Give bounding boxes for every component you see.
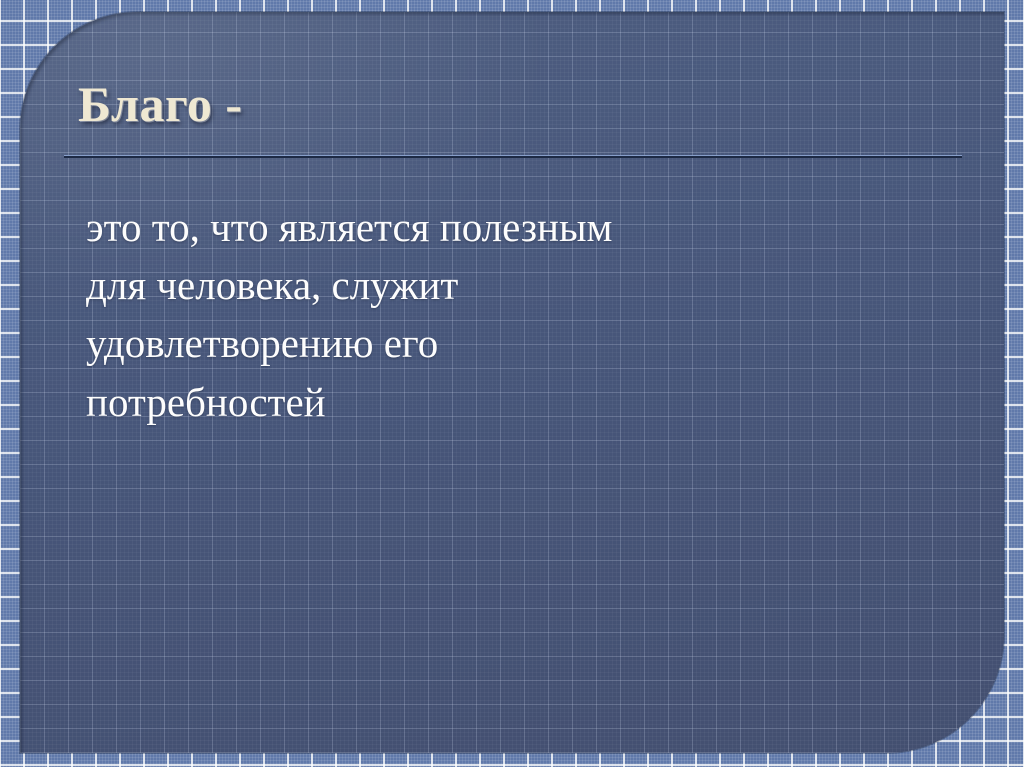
- body-line: удовлетворению его: [86, 314, 906, 372]
- body-line: потребностей: [86, 373, 906, 431]
- body-line: это то, что является полезным: [86, 198, 906, 256]
- presentation-slide: Благо - это то, что является полезным дл…: [0, 0, 1024, 767]
- title-divider-line: [64, 155, 962, 158]
- slide-title: Благо -: [78, 76, 938, 132]
- body-line: для человека, служит: [86, 256, 906, 314]
- slide-body-text: это то, что является полезным для челове…: [86, 198, 906, 431]
